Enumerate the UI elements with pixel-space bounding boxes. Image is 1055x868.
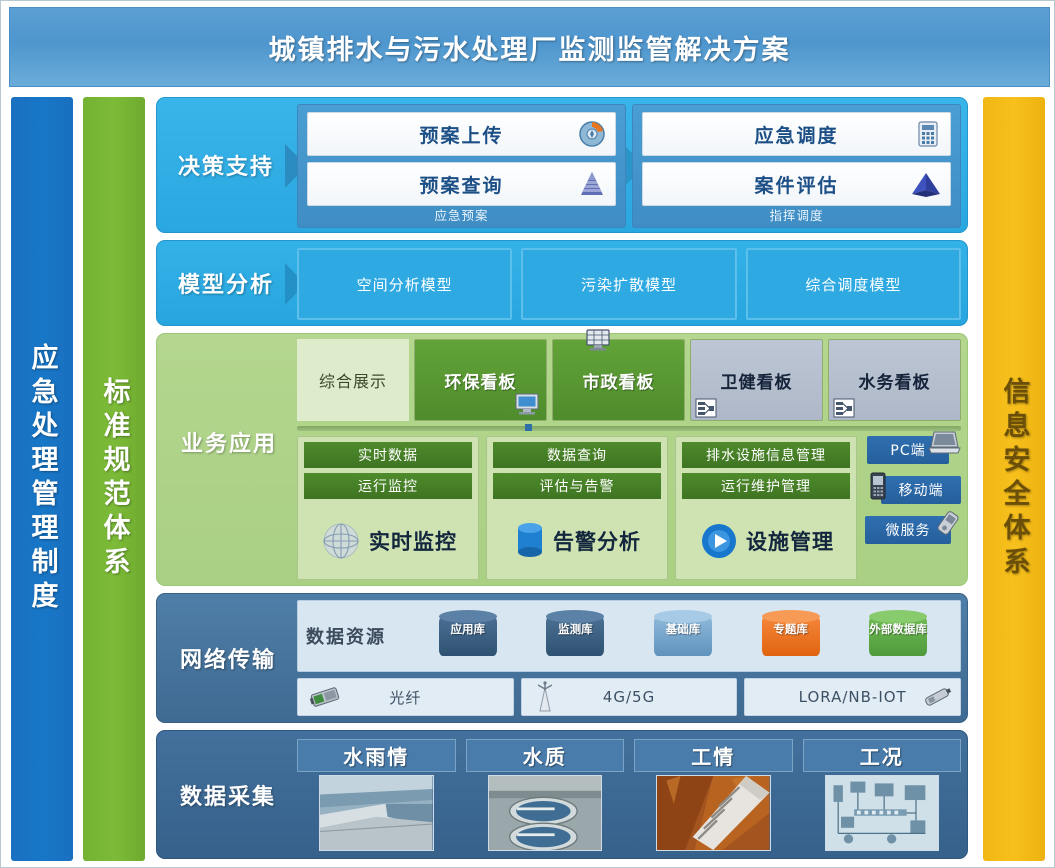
scada-schematic-photo	[825, 775, 940, 851]
business-button-operation-monitoring[interactable]: 运行监控	[304, 473, 472, 499]
model-box-integrated-dispatch[interactable]: 综合调度模型	[746, 248, 961, 320]
architecture-diagram: 城镇排水与污水处理厂监测监管解决方案 应急处理管理制度 标准规范体系 信息安全体…	[0, 0, 1055, 868]
cylinder-icon	[513, 520, 547, 562]
collection-item-works-label: 工情	[634, 739, 793, 772]
kanban-card-water-affairs[interactable]: 水务看板	[828, 339, 961, 421]
kanban-row: 综合展示 环保看板 市政看板	[297, 339, 961, 421]
layer-stack: 决策支持 预案上传	[156, 97, 968, 865]
layer-model-analysis-label: 模型分析	[167, 241, 285, 325]
kanban-card-municipal-label: 市政看板	[583, 368, 655, 393]
card-case-evaluation-label: 案件评估	[754, 171, 838, 198]
transport-row: 光纤 4G/5G LORA/NB-IOT	[297, 678, 961, 716]
kanban-card-municipal[interactable]: 市政看板	[552, 339, 685, 421]
sidebar-information-security-label: 信息安全体系	[995, 377, 1034, 581]
kanban-card-water-affairs-label: 水务看板	[859, 368, 931, 393]
database-monitoring[interactable]: 监测库	[546, 610, 604, 662]
river-channel-photo	[319, 775, 434, 851]
layer-business-application-label: 业务应用	[167, 426, 291, 458]
database-foundation-label: 基础库	[654, 623, 712, 635]
kanban-card-environment-label: 环保看板	[445, 368, 517, 393]
database-external-label: 外部数据库	[869, 623, 927, 635]
layer-data-collection-label: 数据采集	[165, 731, 291, 858]
decision-group-command-dispatch-footer: 指挥调度	[633, 205, 960, 224]
sedimentation-tank-photo	[488, 775, 603, 851]
transport-fiber-label: 光纤	[389, 687, 421, 708]
layer-business-application: 业务应用 综合展示 环保看板 市政看板	[156, 333, 968, 586]
device-tag-pc[interactable]: PC端	[867, 436, 949, 464]
business-feature-alarm-analysis[interactable]: 告警分析	[487, 509, 667, 573]
card-plan-query-label: 预案查询	[419, 171, 503, 198]
database-application[interactable]: 应用库	[439, 610, 497, 662]
device-tag-pc-label: PC端	[890, 440, 925, 460]
sidebar-information-security: 信息安全体系	[983, 97, 1045, 861]
kanban-card-health-label: 卫健看板	[721, 368, 793, 393]
transport-lora-nbiot[interactable]: LORA/NB-IOT	[744, 678, 961, 716]
business-column-realtime: 实时数据 运行监控	[297, 436, 479, 580]
layer-decision-support-label: 决策支持	[167, 98, 285, 232]
kanban-section-title: 综合展示	[297, 339, 409, 421]
model-box-pollution-diffusion[interactable]: 污染扩散模型	[521, 248, 736, 320]
globe-circle-icon	[577, 119, 607, 149]
database-foundation[interactable]: 基础库	[654, 610, 712, 662]
mobile-phone-icon	[867, 471, 889, 501]
pyramid-light-icon	[577, 169, 607, 199]
antenna-tower-icon	[532, 681, 558, 713]
database-thematic[interactable]: 专题库	[762, 610, 820, 662]
data-resource-title: 数据资源	[306, 623, 410, 649]
collection-item-operating-condition-label: 工况	[803, 739, 962, 772]
collection-item-water-quality-label: 水质	[466, 739, 625, 772]
decision-group-emergency-plan-footer: 应急预案	[298, 205, 625, 224]
layer-model-analysis: 模型分析 空间分析模型 污染扩散模型 综合调度模型	[156, 240, 968, 326]
database-monitoring-label: 监测库	[546, 623, 604, 635]
monitor-icon	[514, 392, 540, 416]
transport-fiber[interactable]: 光纤	[297, 678, 514, 716]
page-title: 城镇排水与污水处理厂监测监管解决方案	[269, 28, 791, 67]
business-button-drainage-facility-info[interactable]: 排水设施信息管理	[682, 442, 850, 468]
globe-icon	[319, 519, 363, 563]
card-plan-upload-label: 预案上传	[419, 121, 503, 148]
collection-photo-row: 水雨情	[297, 739, 961, 851]
pyramid-dark-icon	[910, 169, 942, 199]
business-feature-realtime-monitoring[interactable]: 实时监控	[298, 509, 478, 573]
business-column-query: 数据查询 评估与告警 告警分析	[486, 436, 668, 580]
transport-cellular[interactable]: 4G/5G	[521, 678, 738, 716]
decision-group-command-dispatch: 应急调度	[632, 104, 961, 228]
business-button-evaluation-alarm[interactable]: 评估与告警	[493, 473, 661, 499]
business-feature-facility-management-label: 设施管理	[746, 526, 834, 556]
decision-group-emergency-plan: 预案上传 预案查询	[297, 104, 626, 228]
collection-item-rainfall[interactable]: 水雨情	[297, 739, 456, 851]
pipeline-trench-photo	[656, 775, 771, 851]
business-button-operation-maintenance[interactable]: 运行维护管理	[682, 473, 850, 499]
business-feature-realtime-monitoring-label: 实时监控	[369, 526, 457, 556]
data-resource-panel: 数据资源 应用库 监测库 基础库	[297, 600, 961, 672]
kanban-card-health[interactable]: 卫健看板	[690, 339, 823, 421]
page-title-bar: 城镇排水与污水处理厂监测监管解决方案	[9, 7, 1050, 87]
network-node-icon	[833, 398, 855, 418]
sidebar-emergency-management: 应急处理管理制度	[11, 97, 73, 861]
device-tag-mobile-label: 移动端	[899, 480, 944, 500]
business-feature-facility-management[interactable]: 设施管理	[676, 509, 856, 573]
sensor-device-icon	[920, 685, 954, 709]
business-feature-alarm-analysis-label: 告警分析	[553, 526, 641, 556]
device-column: PC端 移动端	[865, 436, 963, 580]
sidebar-emergency-management-label: 应急处理管理制度	[23, 343, 62, 615]
layer-decision-support: 决策支持 预案上传	[156, 97, 968, 233]
device-tag-microservice[interactable]: 微服务	[865, 516, 951, 544]
database-thematic-label: 专题库	[762, 623, 820, 635]
collection-item-water-quality[interactable]: 水质	[466, 739, 625, 851]
business-columns: 实时数据 运行监控	[297, 436, 857, 580]
card-emergency-dispatch[interactable]: 应急调度	[642, 112, 951, 156]
network-node-icon	[695, 398, 717, 418]
kanban-divider	[297, 426, 961, 431]
card-case-evaluation[interactable]: 案件评估	[642, 162, 951, 206]
kanban-divider-marker	[525, 424, 532, 431]
device-tag-mobile[interactable]: 移动端	[881, 476, 961, 504]
database-application-label: 应用库	[439, 623, 497, 635]
sidebar-standards-system-label: 标准规范体系	[95, 377, 134, 581]
business-button-realtime-data[interactable]: 实时数据	[304, 442, 472, 468]
card-emergency-dispatch-label: 应急调度	[754, 121, 838, 148]
model-box-spatial[interactable]: 空间分析模型	[297, 248, 512, 320]
kanban-card-environment[interactable]: 环保看板	[414, 339, 547, 421]
mobile-phone-icon	[933, 510, 963, 536]
transport-cellular-label: 4G/5G	[603, 688, 655, 706]
business-column-facility: 排水设施信息管理 运行维护管理 设施管理	[675, 436, 857, 580]
device-tag-microservice-label: 微服务	[886, 520, 931, 540]
card-plan-upload[interactable]: 预案上传	[307, 112, 616, 156]
play-circle-icon	[698, 520, 740, 562]
fiber-cable-icon	[308, 685, 342, 709]
layer-network-transmission: 网络传输 数据资源 应用库 监测库	[156, 593, 968, 723]
collection-item-works[interactable]: 工情	[634, 739, 793, 851]
transport-lora-nbiot-label: LORA/NB-IOT	[799, 688, 907, 706]
layer-network-transmission-label: 网络传输	[165, 594, 291, 722]
monitor-icon	[585, 328, 611, 352]
laptop-icon	[927, 430, 961, 456]
collection-item-rainfall-label: 水雨情	[297, 739, 456, 772]
collection-item-operating-condition[interactable]: 工况	[803, 739, 962, 851]
layer-data-collection: 数据采集 水雨情	[156, 730, 968, 859]
calculator-grid-icon	[914, 119, 942, 149]
database-external[interactable]: 外部数据库	[869, 610, 927, 662]
business-button-data-query[interactable]: 数据查询	[493, 442, 661, 468]
sidebar-standards-system: 标准规范体系	[83, 97, 145, 861]
card-plan-query[interactable]: 预案查询	[307, 162, 616, 206]
